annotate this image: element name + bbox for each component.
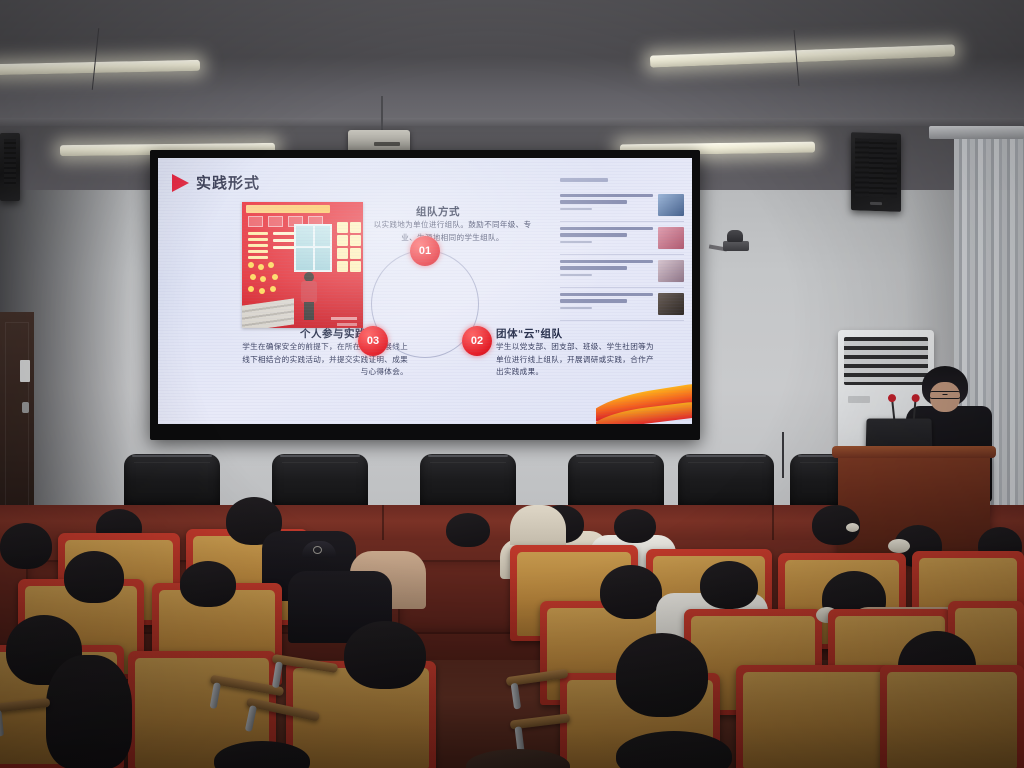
- armrest-support: [511, 683, 522, 710]
- audience-head: [46, 655, 132, 768]
- news-list-panel: [560, 178, 684, 321]
- projector-vent: [374, 142, 400, 146]
- audience-head: [700, 561, 758, 609]
- stage-chair: [420, 454, 516, 512]
- stage-chair: [124, 454, 220, 512]
- audience-head: [614, 509, 656, 543]
- news-item-thumbnail: [658, 293, 684, 315]
- news-item-thumbnail: [658, 194, 684, 216]
- audience-area: [0, 505, 1024, 768]
- poster-stairs: [242, 298, 294, 328]
- audience-head: [344, 621, 426, 689]
- camera-body: [723, 241, 749, 251]
- news-list-item: [560, 189, 684, 222]
- news-item-text: [560, 293, 653, 315]
- diagram-node-03: 03: [358, 326, 388, 356]
- projector-mount-rod: [381, 96, 383, 132]
- audience-head: [0, 523, 52, 569]
- hair-scrunchie: [888, 539, 910, 553]
- projection-screen-frame: 实践形式: [150, 150, 700, 440]
- hair-scrunchie: [846, 523, 859, 532]
- stage-chair: [678, 454, 774, 512]
- audience-head: [64, 551, 124, 603]
- center-body: 以实践地为单位进行组队。鼓励不同年级、专业、生源地相同的学生组队。: [370, 219, 535, 244]
- news-list-header: [560, 178, 608, 182]
- news-list-item: [560, 255, 684, 288]
- center-heading: 组队方式: [416, 204, 460, 219]
- poster-dots-graphic: [248, 262, 292, 296]
- audience-seat: [880, 665, 1024, 768]
- camera-head: [727, 230, 743, 242]
- audience-shoulders: [510, 505, 566, 545]
- wall-speaker-left: [0, 133, 20, 201]
- news-item-text: [560, 227, 653, 249]
- news-list-item: [560, 222, 684, 255]
- poster-window-graphic: [294, 224, 332, 272]
- triangle-bullet-icon: [172, 174, 189, 192]
- left-heading: 个人参与实践: [300, 326, 366, 341]
- stage-chair: [272, 454, 368, 512]
- pavilion-roof-graphic: [596, 374, 692, 424]
- audience-head: [180, 561, 236, 607]
- audience-head: [446, 513, 490, 547]
- door-handle[interactable]: [22, 402, 29, 413]
- presentation-slide: 实践形式: [158, 158, 692, 424]
- slide-title-row: 实践形式: [172, 172, 260, 193]
- projection-screen: 实践形式: [158, 158, 692, 424]
- news-item-thumbnail: [658, 260, 684, 282]
- right-heading: 团体“云”组队: [496, 326, 563, 341]
- audience-head: [466, 749, 570, 768]
- stage-chair: [568, 454, 664, 512]
- ptz-camera: [723, 230, 749, 256]
- speaker-grille: [855, 138, 897, 197]
- curtain-rail: [929, 126, 1024, 139]
- audience-head: [600, 565, 662, 619]
- speaker-grille: [4, 139, 16, 187]
- poster-text-col-a: [248, 232, 268, 262]
- ac-control-panel[interactable]: [848, 396, 870, 403]
- poster-footer-line: [331, 317, 357, 320]
- news-item-text: [560, 194, 653, 216]
- speaker-badge: [870, 202, 882, 205]
- auditorium-scene: 实践形式: [0, 0, 1024, 768]
- poster-person-legs: [304, 302, 314, 320]
- right-body: 学生以党支部、团支部、班级、学生社团等为单位进行线上组队，开展调研或实践，合作产…: [496, 341, 661, 379]
- news-item-text: [560, 260, 653, 282]
- podium-top-surface: [832, 446, 996, 458]
- wall-speaker-right: [851, 132, 901, 212]
- news-item-thumbnail: [658, 227, 684, 249]
- news-list-item: [560, 288, 684, 321]
- poster-photo: [242, 202, 363, 328]
- poster-person-coat: [301, 281, 317, 303]
- poster-person: [300, 272, 318, 320]
- stage-microphone: [782, 432, 784, 478]
- glasses-icon: [929, 391, 961, 399]
- audience-cap: [302, 541, 336, 558]
- poster-vertical-text-b: [350, 222, 363, 272]
- poster-vertical-text-a: [337, 222, 350, 272]
- cap-logo-icon: [313, 546, 322, 554]
- diagram-node-02: 02: [462, 326, 492, 356]
- diagram-node-01: 01: [410, 236, 440, 266]
- audience-seat: [736, 665, 892, 768]
- poster-banner: [246, 205, 330, 213]
- slide-title: 实践形式: [196, 172, 260, 193]
- audience-head: [616, 633, 708, 717]
- door-plate: [20, 360, 30, 382]
